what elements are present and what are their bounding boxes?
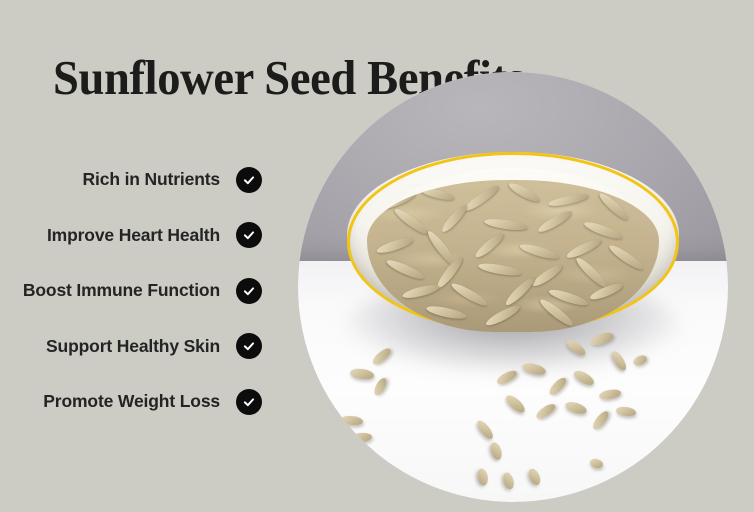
benefit-label: Support Healthy Skin <box>46 336 220 357</box>
check-icon <box>236 167 262 193</box>
check-icon <box>236 389 262 415</box>
benefit-item-2: Improve Heart Health <box>0 208 268 264</box>
benefit-item-3: Boost Immune Function <box>0 263 268 319</box>
benefit-label: Promote Weight Loss <box>43 391 220 412</box>
infographic-canvas: Sunflower Seed Benefits Rich in Nutrient… <box>0 0 754 512</box>
benefit-label: Boost Immune Function <box>23 280 220 301</box>
check-icon <box>236 333 262 359</box>
benefit-label: Improve Heart Health <box>47 225 220 246</box>
sunflower-seed-pile <box>367 180 658 332</box>
check-icon <box>236 222 262 248</box>
benefit-label: Rich in Nutrients <box>83 169 220 190</box>
benefit-item-1: Rich in Nutrients <box>0 152 268 208</box>
benefits-list: Rich in Nutrients Improve Heart Health B… <box>0 152 268 430</box>
benefit-item-4: Support Healthy Skin <box>0 319 268 375</box>
check-icon <box>236 278 262 304</box>
benefit-item-5: Promote Weight Loss <box>0 374 268 430</box>
seed-bowl <box>347 152 678 333</box>
bowl-of-sunflower-seeds-photo <box>298 72 728 502</box>
